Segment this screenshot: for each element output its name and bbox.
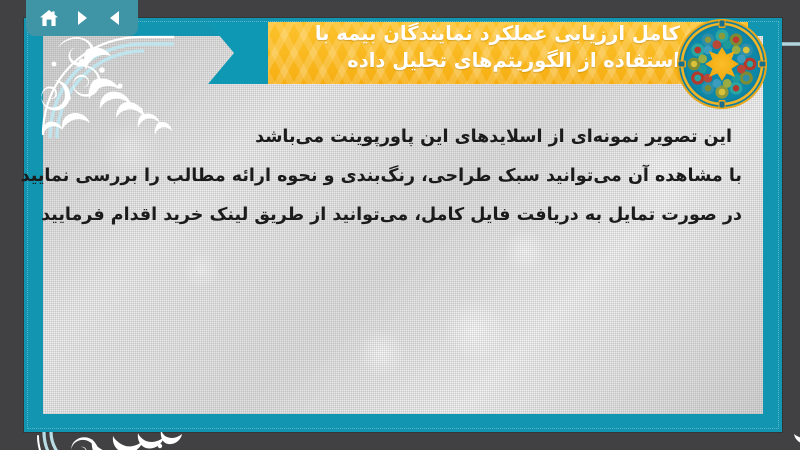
body-line-2: با مشاهده آن می‌توانید سبک طراحی، رنگ‌بن… xyxy=(58,157,742,196)
triangle-right-icon xyxy=(73,9,91,27)
home-button[interactable] xyxy=(36,6,62,30)
body-line-1: این تصویر نمونه‌ای از اسلایدهای این پاور… xyxy=(58,118,742,157)
triangle-left-icon xyxy=(106,9,124,27)
slide-body: این تصویر نمونه‌ای از اسلایدهای این پاور… xyxy=(58,118,742,235)
home-icon xyxy=(39,9,59,28)
corner-ornament-bottom-right xyxy=(782,432,800,450)
back-button[interactable] xyxy=(102,6,128,30)
navigation-bar xyxy=(26,0,138,36)
corner-ornament-top-right xyxy=(782,18,800,138)
slide-stage: کامل ارزیابی عملکرد نمایندگان بیمه با اس… xyxy=(0,0,800,450)
corner-ornament-bottom-left xyxy=(24,432,194,450)
forward-button[interactable] xyxy=(69,6,95,30)
body-line-3: در صورت تمایل به دریافت فایل کامل، می‌تو… xyxy=(58,196,742,235)
